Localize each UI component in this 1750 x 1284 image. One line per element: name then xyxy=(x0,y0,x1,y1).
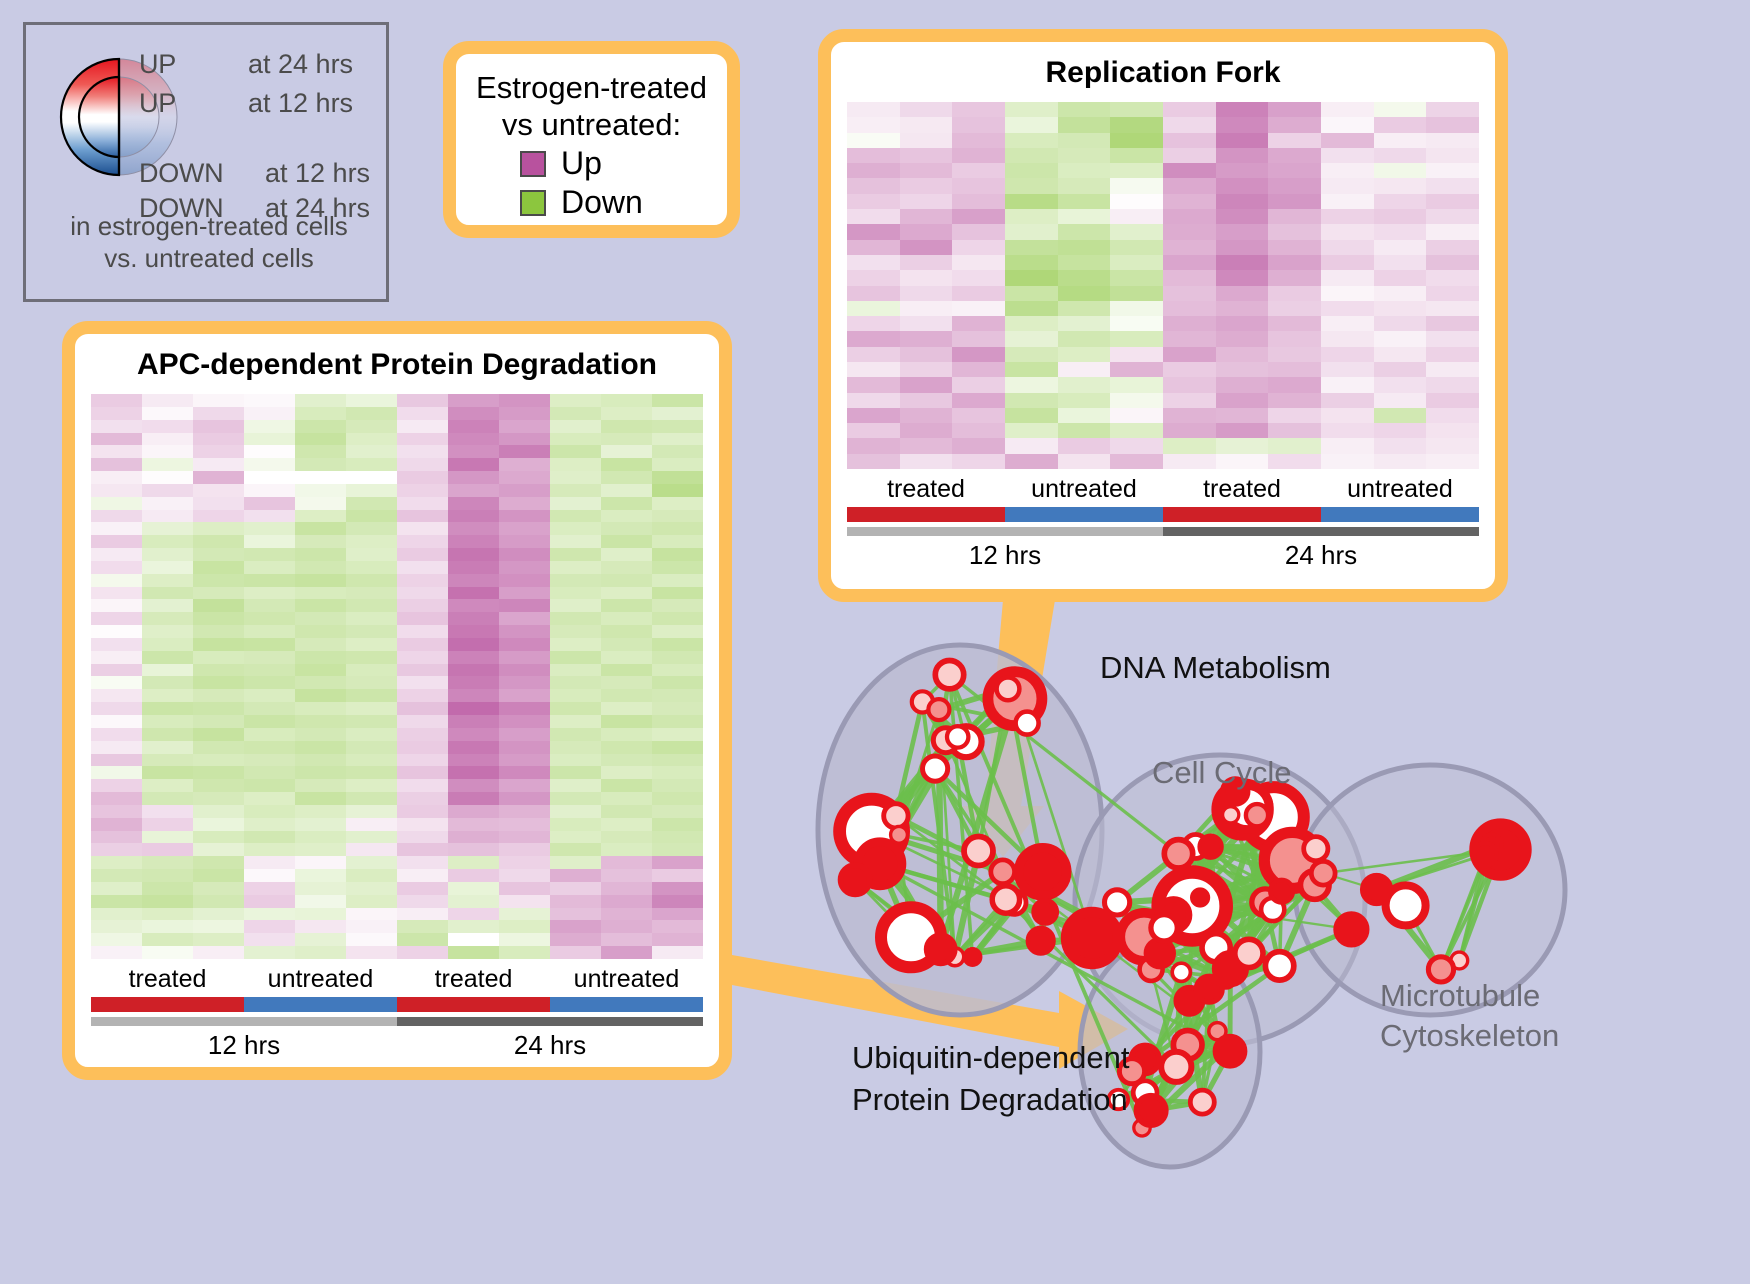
network-node[interactable] xyxy=(1105,890,1130,915)
heatmap-cell xyxy=(346,522,397,535)
heatmap-cell xyxy=(499,420,550,433)
heatmap-cell xyxy=(847,454,900,469)
heatmap-cell xyxy=(91,561,142,574)
heatmap-cell xyxy=(601,625,652,638)
heatmap-cell xyxy=(1163,408,1216,423)
network-node[interactable] xyxy=(927,935,955,963)
heatmap-cell xyxy=(1374,178,1427,193)
heatmap-cell xyxy=(601,445,652,458)
heatmap-cell xyxy=(1321,362,1374,377)
treatment-bar-untreated-12 xyxy=(1005,507,1163,522)
heatmap-cell xyxy=(900,408,953,423)
heatmap-cell xyxy=(346,792,397,805)
heatmap-cell xyxy=(244,574,295,587)
heatmap-cell xyxy=(346,433,397,446)
heatmap-cell xyxy=(244,638,295,651)
network-node[interactable] xyxy=(1151,915,1177,941)
heatmap-cell xyxy=(244,561,295,574)
heatmap-cell xyxy=(1374,423,1427,438)
time-label-12hrs: 12 hrs xyxy=(847,540,1163,571)
heatmap-cell xyxy=(1005,331,1058,346)
heatmap-cell xyxy=(601,792,652,805)
network-node[interactable] xyxy=(947,726,968,747)
heatmap-cell xyxy=(448,471,499,484)
network-node[interactable] xyxy=(923,756,948,781)
heatmap-cell xyxy=(295,754,346,767)
heatmap-cell xyxy=(346,908,397,921)
network-node[interactable] xyxy=(1304,837,1328,861)
heatmap-cell xyxy=(1163,270,1216,285)
heatmap-cell xyxy=(952,255,1005,270)
heatmap-cell xyxy=(652,599,703,612)
heatmap-cell xyxy=(847,133,900,148)
heatmap-cell xyxy=(1058,362,1111,377)
heatmap-cell xyxy=(847,178,900,193)
legend-ring-time-up-12: at 12 hrs xyxy=(248,88,353,119)
heatmap-cell xyxy=(448,728,499,741)
heatmap-cell xyxy=(1268,102,1321,117)
heatmap-cell xyxy=(295,805,346,818)
heatmap-cell xyxy=(550,574,601,587)
heatmap-cell xyxy=(346,754,397,767)
heatmap-cell xyxy=(397,908,448,921)
heatmap-cell xyxy=(652,535,703,548)
heatmap-cell xyxy=(397,445,448,458)
heatmap-cell xyxy=(1426,148,1479,163)
group-label-untreated-12: untreated xyxy=(1005,475,1163,504)
heatmap-cell xyxy=(1321,454,1374,469)
heatmap-cell xyxy=(1058,377,1111,392)
heatmap-cell xyxy=(346,766,397,779)
heatmap-cell xyxy=(448,882,499,895)
heatmap-cell xyxy=(1163,331,1216,346)
apc-group-label-untreated-12: untreated xyxy=(244,965,397,994)
heatmap-cell xyxy=(550,664,601,677)
network-node[interactable] xyxy=(991,860,1015,884)
heatmap-cell xyxy=(295,715,346,728)
heatmap-cell xyxy=(952,301,1005,316)
heatmap-cell xyxy=(142,561,193,574)
heatmap-cell xyxy=(550,792,601,805)
heatmap-cell xyxy=(142,689,193,702)
heatmap-cell xyxy=(295,728,346,741)
heatmap-cell xyxy=(550,484,601,497)
network-node[interactable] xyxy=(1223,807,1239,823)
heatmap-cell xyxy=(499,869,550,882)
heatmap-cell xyxy=(1110,423,1163,438)
network-node[interactable] xyxy=(891,826,908,843)
heatmap-cell xyxy=(1058,347,1111,362)
heatmap-cell xyxy=(652,869,703,882)
network-node[interactable] xyxy=(1235,939,1263,967)
network-node[interactable] xyxy=(1311,861,1335,885)
heatmap-cell xyxy=(601,869,652,882)
cluster-label-microtubule: Microtubule xyxy=(1380,978,1540,1014)
heatmap-cell xyxy=(601,908,652,921)
network-node[interactable] xyxy=(884,804,908,828)
heatmap-cell xyxy=(601,420,652,433)
heatmap-cell xyxy=(550,587,601,600)
heatmap-cell xyxy=(601,676,652,689)
heatmap-cell xyxy=(652,574,703,587)
heatmap-cell xyxy=(1005,209,1058,224)
heatmap-cell xyxy=(193,754,244,767)
network-node[interactable] xyxy=(1137,1096,1166,1125)
heatmap-cell xyxy=(499,587,550,600)
network-node[interactable] xyxy=(1270,880,1293,903)
heatmap-cell xyxy=(295,445,346,458)
heatmap-cell xyxy=(295,599,346,612)
heatmap-cell xyxy=(397,548,448,561)
heatmap-cell xyxy=(1058,255,1111,270)
heatmap-cell xyxy=(1426,316,1479,331)
heatmap-cell xyxy=(1426,240,1479,255)
heatmap-cell xyxy=(1321,286,1374,301)
network-node[interactable] xyxy=(1019,848,1067,896)
heatmap-cell xyxy=(91,407,142,420)
heatmap-cell xyxy=(346,702,397,715)
heatmap-cell xyxy=(1268,209,1321,224)
heatmap-cell xyxy=(952,454,1005,469)
heatmap-cell xyxy=(1268,377,1321,392)
heatmap-cell xyxy=(550,908,601,921)
network-node[interactable] xyxy=(1192,889,1209,906)
replication-fork-panel: Replication Fork treated untreated treat… xyxy=(818,29,1508,602)
heatmap-cell xyxy=(652,458,703,471)
heatmap-cell xyxy=(142,856,193,869)
apc-time-label-24hrs: 24 hrs xyxy=(397,1030,703,1061)
heatmap-cell xyxy=(601,497,652,510)
heatmap-cell xyxy=(1005,102,1058,117)
heatmap-cell xyxy=(193,574,244,587)
heatmap-cell xyxy=(397,728,448,741)
heatmap-cell xyxy=(1058,423,1111,438)
network-node[interactable] xyxy=(1196,976,1222,1002)
heatmap-cell xyxy=(142,458,193,471)
heatmap-cell xyxy=(1005,224,1058,239)
heatmap-cell xyxy=(142,766,193,779)
heatmap-cell xyxy=(1163,393,1216,408)
heatmap-cell xyxy=(601,882,652,895)
heatmap-cell xyxy=(601,779,652,792)
network-node[interactable] xyxy=(964,837,993,866)
heatmap-cell xyxy=(397,651,448,664)
heatmap-cell xyxy=(244,548,295,561)
heatmap-cell xyxy=(1268,301,1321,316)
heatmap-cell xyxy=(244,599,295,612)
replication-time-labels: 12 hrs 24 hrs xyxy=(847,540,1479,571)
heatmap-cell xyxy=(448,843,499,856)
heatmap-cell xyxy=(652,548,703,561)
network-node[interactable] xyxy=(1172,963,1190,981)
heatmap-cell xyxy=(1374,438,1427,453)
heatmap-cell xyxy=(142,471,193,484)
heatmap-cell xyxy=(652,651,703,664)
heatmap-cell xyxy=(193,664,244,677)
heatmap-cell xyxy=(1268,423,1321,438)
heatmap-cell xyxy=(1058,163,1111,178)
heatmap-cell xyxy=(847,301,900,316)
heatmap-cell xyxy=(193,484,244,497)
heatmap-cell xyxy=(952,316,1005,331)
replication-time-bars xyxy=(847,527,1479,536)
heatmap-cell xyxy=(847,331,900,346)
heatmap-cell xyxy=(91,741,142,754)
apc-treatment-bar-untreated-12 xyxy=(244,997,397,1012)
heatmap-cell xyxy=(652,445,703,458)
network-node[interactable] xyxy=(964,949,981,966)
heatmap-cell xyxy=(346,779,397,792)
heatmap-cell xyxy=(550,522,601,535)
heatmap-cell xyxy=(244,433,295,446)
heatmap-cell xyxy=(1321,148,1374,163)
heatmap-cell xyxy=(244,754,295,767)
heatmap-cell xyxy=(346,535,397,548)
legend-key-down: Down xyxy=(520,184,727,221)
time-bar-24hrs xyxy=(1163,527,1479,536)
network-node[interactable] xyxy=(1146,940,1173,967)
heatmap-cell xyxy=(91,484,142,497)
legend-key-up: Up xyxy=(520,145,727,182)
heatmap-cell xyxy=(1321,316,1374,331)
heatmap-cell xyxy=(1005,454,1058,469)
heatmap-cell xyxy=(601,548,652,561)
heatmap-cell xyxy=(900,316,953,331)
heatmap-cell xyxy=(652,766,703,779)
heatmap-cell xyxy=(346,574,397,587)
heatmap-cell xyxy=(1163,347,1216,362)
heatmap-cell xyxy=(550,458,601,471)
heatmap-cell xyxy=(1216,255,1269,270)
network-node[interactable] xyxy=(1265,952,1293,980)
heatmap-cell xyxy=(1058,117,1111,132)
heatmap-cell xyxy=(142,548,193,561)
heatmap-cell xyxy=(295,535,346,548)
heatmap-cell xyxy=(193,420,244,433)
heatmap-cell xyxy=(1005,301,1058,316)
heatmap-cell xyxy=(499,843,550,856)
heatmap-cell xyxy=(550,702,601,715)
heatmap-cell xyxy=(1268,270,1321,285)
network-node[interactable] xyxy=(1336,914,1366,944)
heatmap-cell xyxy=(952,331,1005,346)
heatmap-cell xyxy=(193,407,244,420)
heatmap-cell xyxy=(397,715,448,728)
legend-ring-label-up-24: UP xyxy=(139,49,176,80)
heatmap-cell xyxy=(1321,347,1374,362)
network-node[interactable] xyxy=(1216,1037,1245,1066)
legend-key-down-label: Down xyxy=(561,184,643,221)
heatmap-cell xyxy=(397,484,448,497)
heatmap-cell xyxy=(244,831,295,844)
heatmap-cell xyxy=(142,497,193,510)
heatmap-cell xyxy=(346,638,397,651)
heatmap-cell xyxy=(346,407,397,420)
heatmap-cell xyxy=(448,599,499,612)
heatmap-cell xyxy=(193,676,244,689)
network-node[interactable] xyxy=(997,678,1020,701)
heatmap-cell xyxy=(193,651,244,664)
network-node[interactable] xyxy=(1363,876,1391,904)
heatmap-cell xyxy=(550,471,601,484)
heatmap-cell xyxy=(1374,454,1427,469)
heatmap-cell xyxy=(193,625,244,638)
network-node[interactable] xyxy=(1066,912,1118,964)
heatmap-cell xyxy=(1216,316,1269,331)
heatmap-cell xyxy=(295,843,346,856)
heatmap-cell xyxy=(346,510,397,523)
apc-treatment-bars xyxy=(91,997,703,1012)
heatmap-cell xyxy=(142,869,193,882)
network-node[interactable] xyxy=(928,699,949,720)
network-node[interactable] xyxy=(1164,840,1192,868)
network-node[interactable] xyxy=(1034,900,1057,923)
legend-footer: in estrogen-treated cells vs. untreated … xyxy=(26,211,392,274)
heatmap-cell xyxy=(397,882,448,895)
heatmap-cell xyxy=(1058,194,1111,209)
heatmap-cell xyxy=(142,612,193,625)
heatmap-cell xyxy=(244,766,295,779)
heatmap-cell xyxy=(1374,117,1427,132)
heatmap-cell xyxy=(91,522,142,535)
heatmap-cell xyxy=(1163,454,1216,469)
heatmap-cell xyxy=(295,831,346,844)
heatmap-cell xyxy=(397,625,448,638)
heatmap-cell xyxy=(499,574,550,587)
heatmap-cell xyxy=(142,792,193,805)
time-label-24hrs: 24 hrs xyxy=(1163,540,1479,571)
heatmap-cell xyxy=(550,805,601,818)
heatmap-cell xyxy=(952,270,1005,285)
heatmap-cell xyxy=(1374,209,1427,224)
heatmap-cell xyxy=(1005,240,1058,255)
heatmap-cell xyxy=(1216,331,1269,346)
heatmap-cell xyxy=(91,715,142,728)
heatmap-cell xyxy=(601,484,652,497)
heatmap-cell xyxy=(397,471,448,484)
heatmap-cell xyxy=(295,561,346,574)
heatmap-cell xyxy=(1321,240,1374,255)
heatmap-cell xyxy=(142,702,193,715)
heatmap-cell xyxy=(244,882,295,895)
network-node[interactable] xyxy=(1474,843,1497,866)
network-node[interactable] xyxy=(1200,836,1222,858)
network-node[interactable] xyxy=(1246,804,1268,826)
heatmap-cell xyxy=(1058,178,1111,193)
heatmap-cell xyxy=(1216,194,1269,209)
apc-group-label-treated-12: treated xyxy=(91,965,244,994)
heatmap-cell xyxy=(397,702,448,715)
heatmap-cell xyxy=(142,728,193,741)
heatmap-cell xyxy=(952,423,1005,438)
heatmap-cell xyxy=(91,394,142,407)
heatmap-cell xyxy=(448,407,499,420)
heatmap-cell xyxy=(847,286,900,301)
heatmap-cell xyxy=(295,895,346,908)
heatmap-cell xyxy=(1110,194,1163,209)
heatmap-cell xyxy=(1321,270,1374,285)
heatmap-cell xyxy=(499,676,550,689)
heatmap-cell xyxy=(1268,316,1321,331)
heatmap-cell xyxy=(550,741,601,754)
network-node[interactable] xyxy=(1028,928,1053,953)
heatmap-cell xyxy=(193,843,244,856)
heatmap-cell xyxy=(499,484,550,497)
heatmap-cell xyxy=(91,497,142,510)
heatmap-cell xyxy=(91,792,142,805)
heatmap-cell xyxy=(448,458,499,471)
heatmap-cell xyxy=(346,458,397,471)
heatmap-cell xyxy=(1058,286,1111,301)
heatmap-cell xyxy=(900,163,953,178)
heatmap-cell xyxy=(448,805,499,818)
heatmap-cell xyxy=(295,792,346,805)
heatmap-cell xyxy=(91,548,142,561)
heatmap-cell xyxy=(1163,438,1216,453)
heatmap-cell xyxy=(91,574,142,587)
heatmap-cell xyxy=(346,548,397,561)
heatmap-cell xyxy=(1268,117,1321,132)
heatmap-cell xyxy=(652,420,703,433)
heatmap-cell xyxy=(1058,454,1111,469)
heatmap-cell xyxy=(900,286,953,301)
heatmap-cell xyxy=(1058,331,1111,346)
heatmap-cell xyxy=(346,805,397,818)
heatmap-cell xyxy=(193,471,244,484)
heatmap-cell xyxy=(1426,270,1479,285)
heatmap-cell xyxy=(1268,286,1321,301)
heatmap-cell xyxy=(193,908,244,921)
network-node[interactable] xyxy=(1161,1052,1191,1082)
heatmap-cell xyxy=(1374,240,1427,255)
heatmap-cell xyxy=(1426,408,1479,423)
heatmap-cell xyxy=(448,779,499,792)
heatmap-cell xyxy=(900,255,953,270)
heatmap-cell xyxy=(601,843,652,856)
heatmap-cell xyxy=(900,438,953,453)
network-node[interactable] xyxy=(992,886,1019,913)
heatmap-cell xyxy=(952,393,1005,408)
heatmap-cell xyxy=(847,224,900,239)
heatmap-cell xyxy=(550,946,601,959)
heatmap-cell xyxy=(346,664,397,677)
heatmap-cell xyxy=(295,882,346,895)
heatmap-cell xyxy=(952,133,1005,148)
heatmap-cell xyxy=(550,420,601,433)
heatmap-cell xyxy=(1058,438,1111,453)
heatmap-cell xyxy=(1374,362,1427,377)
heatmap-cell xyxy=(244,458,295,471)
heatmap-cell xyxy=(397,612,448,625)
heatmap-cell xyxy=(448,548,499,561)
heatmap-cell xyxy=(397,779,448,792)
heatmap-cell xyxy=(952,163,1005,178)
heatmap-cell xyxy=(244,420,295,433)
heatmap-cell xyxy=(499,561,550,574)
network-node[interactable] xyxy=(935,661,963,689)
heatmap-cell xyxy=(193,561,244,574)
heatmap-cell xyxy=(346,625,397,638)
heatmap-cell xyxy=(652,715,703,728)
heatmap-cell xyxy=(1058,270,1111,285)
heatmap-cell xyxy=(295,638,346,651)
network-node[interactable] xyxy=(1190,1090,1214,1114)
heatmap-cell xyxy=(1216,301,1269,316)
network-node[interactable] xyxy=(1016,712,1039,735)
heatmap-cell xyxy=(1110,438,1163,453)
heatmap-cell xyxy=(847,163,900,178)
network-node[interactable] xyxy=(841,865,870,894)
